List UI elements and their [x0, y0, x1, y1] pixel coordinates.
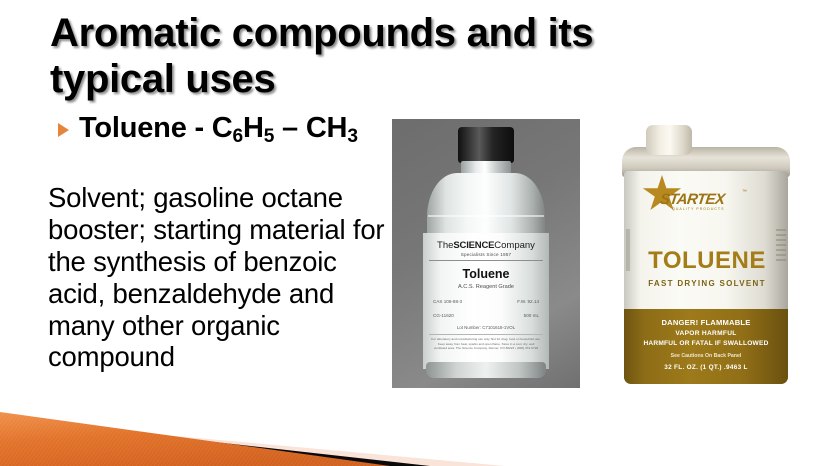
warning-flammable: FLAMMABLE: [701, 318, 751, 327]
can-warning-band: DANGER! FLAMMABLE VAPOR HARMFUL HARMFUL …: [624, 309, 788, 384]
can-product-name: TOLUENE: [614, 247, 800, 275]
bottle-label-fine-print: For laboratory and manufacturing use onl…: [431, 337, 541, 351]
bottle-base: [426, 362, 546, 378]
page-title: Aromatic compounds and its typical uses: [50, 10, 650, 102]
bullet-sub-5: 5: [264, 126, 274, 147]
bottle-label-code: CG-11620: [433, 313, 454, 318]
can-cap: [646, 125, 692, 155]
slide-canvas: Aromatic compounds and its typical uses …: [0, 0, 828, 466]
bullet-text-prefix: Toluene - C: [79, 112, 233, 144]
brand-the: The: [437, 240, 453, 251]
bottle-label-tagline: Specialists Since 1957: [423, 252, 549, 257]
bottle-label-fw: F.W. 92.14: [517, 299, 539, 304]
bullet-sub-6: 6: [233, 126, 243, 147]
warning-danger: DANGER!: [661, 318, 698, 327]
bullet-sub-3: 3: [347, 126, 357, 147]
bullet-text-mid1: H: [243, 112, 264, 144]
brand-company: Company: [494, 240, 535, 251]
can-warning-line-2: VAPOR HARMFUL: [624, 330, 788, 337]
bottle-liquid-level: [428, 215, 544, 217]
bullet-item-toluene: Toluene - C6H5 – CH3: [58, 112, 388, 145]
bottle-cap: [458, 127, 514, 163]
can-trademark-symbol: ™: [742, 189, 747, 195]
can-brand-name: STARTEX: [659, 191, 726, 208]
bullet-item-label: Toluene - C6H5 – CH3: [79, 112, 358, 145]
can-warning-line-4: See Cautions On Back Panel: [624, 353, 788, 359]
can-warning-line-3: HARMFUL OR FATAL IF SWALLOWED: [624, 340, 788, 347]
bottle-label-divider-top: [429, 260, 543, 261]
bottle-label-product: Toluene: [423, 267, 549, 281]
startex-toluene-can-image: STARTEX ™ QUALITY PRODUCTS TOLUENE FAST …: [614, 119, 800, 388]
bottom-diagonal-banner: [0, 398, 828, 466]
bottle-label-size: 500 mL: [524, 313, 539, 318]
bottle-label-divider-bottom: [429, 334, 543, 335]
can-brand-tagline: QUALITY PRODUCTS: [672, 207, 724, 211]
toluene-bottle-image: TheSCIENCECompany Specialists Since 1957…: [392, 119, 580, 388]
bottle-label: TheSCIENCECompany Specialists Since 1957…: [423, 233, 549, 369]
bottle-label-cas: CAS 108-88-3: [433, 299, 462, 304]
triangle-bullet-icon: [58, 123, 69, 137]
can-volume-text: 32 FL. OZ. (1 QT.) .9463 L: [624, 364, 788, 371]
can-warning-line-1: DANGER! FLAMMABLE: [624, 318, 788, 327]
bottle-label-grade: A.C.S. Reagent Grade: [423, 284, 549, 290]
brand-science: SCIENCE: [453, 240, 494, 251]
bullet-text-mid2: – CH: [274, 112, 347, 144]
body-paragraph: Solvent; gasoline octane booster; starti…: [48, 182, 393, 373]
can-product-subtitle: FAST DRYING SOLVENT: [614, 279, 800, 288]
bottle-label-lot: Lot Number: C7101618-1VOL: [423, 325, 549, 330]
bottle-label-brand: TheSCIENCECompany: [423, 240, 549, 251]
